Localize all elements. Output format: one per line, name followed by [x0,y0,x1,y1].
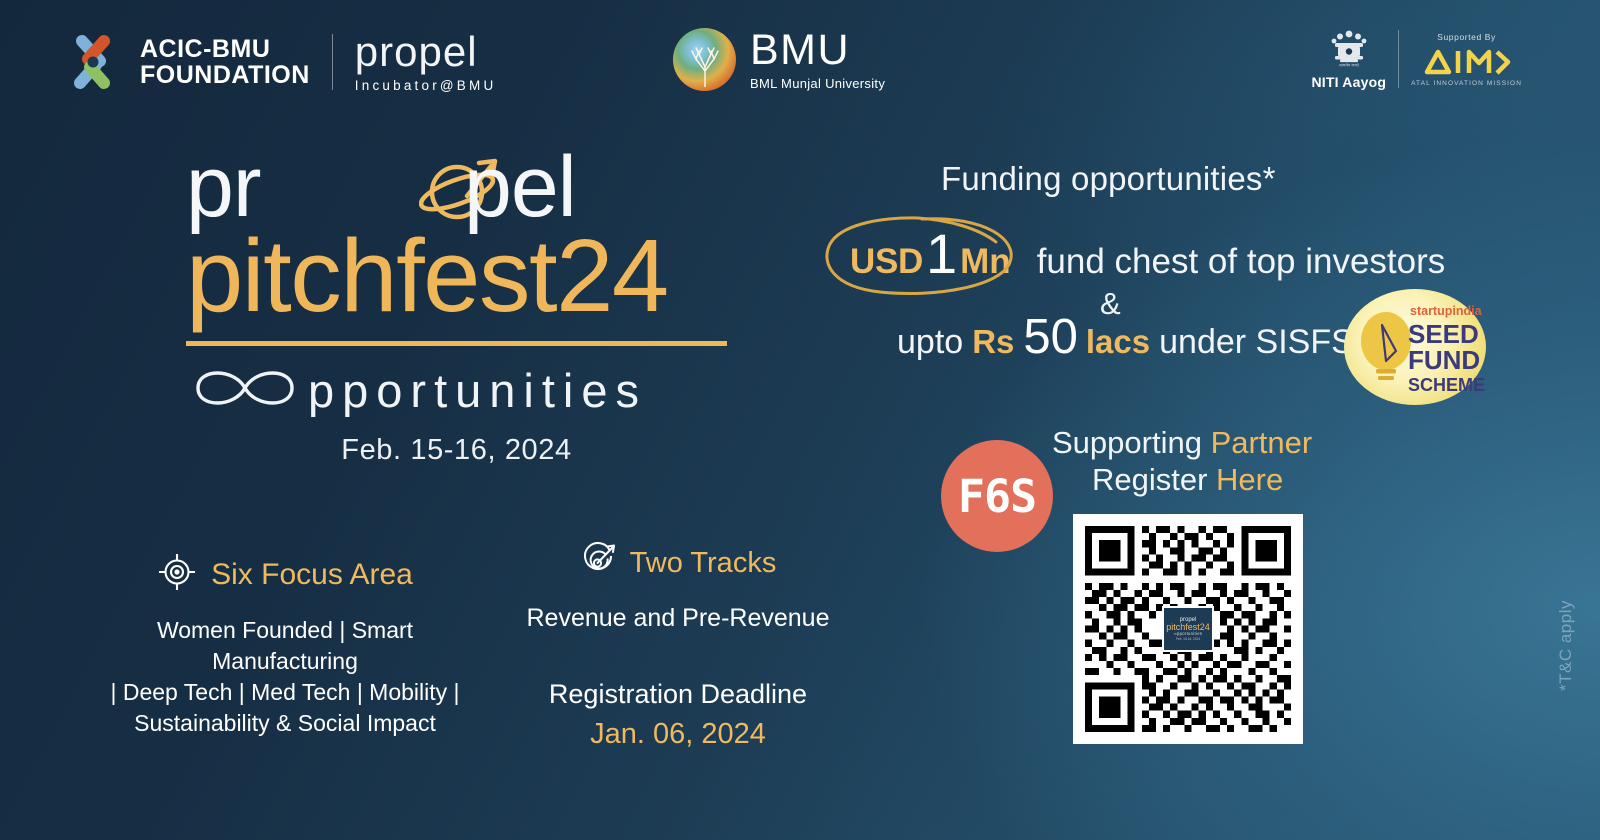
propel-tagline: Incubator@BMU [355,78,497,93]
usd-amount: 1 [926,232,957,277]
aim-supported-by: Supported By [1437,32,1496,42]
terms-conditions-note: *T&C apply [1556,600,1576,691]
sisfs-unit: lacs [1086,323,1150,361]
bmu-logo: BMU BML Munjal University [673,28,885,91]
focus-area-list: Women Founded | Smart Manufacturing | De… [85,615,485,739]
poster-canvas: ACIC-BMU FOUNDATION propel Incubator@BMU… [0,0,1600,840]
focus-heading: Six Focus Area [211,558,413,592]
bmu-tree-orb-icon [673,28,736,91]
event-date: Feb. 15-16, 2024 [186,434,727,467]
tracks-heading: Two Tracks [630,547,777,580]
svg-text:startupindia: startupindia [1410,304,1483,318]
funding-sisfs-row: upto Rs 50 lacs under SISFS [897,318,1354,362]
propel-suffix: pel [464,144,576,230]
opportunities-line: pportunities [186,358,746,422]
focus-line-2: | Deep Tech | Med Tech | Mobility | [85,677,485,708]
aim-logo: Supported By ATAL INNOVATION MISSION [1411,32,1522,87]
two-tracks-section: Two Tracks Revenue and Pre-Revenue Regis… [522,542,834,751]
crosshair-target-icon [157,552,197,597]
svg-text:SCHEME: SCHEME [1408,375,1485,395]
six-focus-area-section: Six Focus Area Women Founded | Smart Man… [85,552,485,739]
ashoka-emblem-icon: सत्यमेव जयते [1329,28,1369,72]
supporting-label: Supporting [1052,425,1211,460]
funding-heading: Funding opportunities* [941,160,1276,198]
registration-qr-code[interactable]: propel pitchfest24 ∞pportunities Feb. 15… [1073,514,1303,744]
partner-label: Partner [1211,425,1313,460]
qr-matrix: propel pitchfest24 ∞pportunities Feb. 15… [1085,526,1291,732]
propel-headline: pr pel [186,150,746,228]
svg-text:FUND: FUND [1408,345,1480,375]
bmu-full-name: BML Munjal University [750,77,885,90]
niti-aayog-label: NITI Aayog [1311,74,1386,90]
aim-subtitle: ATAL INNOVATION MISSION [1411,80,1522,87]
sisfs-amount: 50 [1023,318,1078,357]
pitchfest-headline: pitchfest24 [186,224,746,327]
propel-prefix: pr [186,144,260,230]
event-title-block: pr pel pitchfest24 [186,150,746,467]
tracks-subtitle: Revenue and Pre-Revenue [522,604,834,633]
acic-wordmark: ACIC-BMU FOUNDATION [140,36,310,89]
tracks-heading-row: Two Tracks [522,542,834,585]
title-underline-rule [186,341,727,346]
usd-prefix: USD [850,242,923,282]
deadline-label: Registration Deadline [522,679,834,710]
header-divider [332,34,333,90]
bmu-abbr: BMU [750,29,885,72]
usd-description: fund chest of top investors [1037,242,1446,282]
funding-usd-row: USD 1 Mn fund chest of top investors [828,232,1445,282]
focus-line-1: Women Founded | Smart Manufacturing [85,615,485,677]
focus-heading-row: Six Focus Area [85,552,485,597]
opportunities-text: pportunities [308,367,647,414]
svg-text:सत्यमेव जयते: सत्यमेव जयते [1339,63,1359,68]
focus-line-3: Sustainability & Social Impact [85,708,485,739]
deadline-value: Jan. 06, 2024 [522,718,834,751]
acic-bmu-propel-logo: ACIC-BMU FOUNDATION propel Incubator@BMU [62,31,496,93]
sisfs-description: under SISFS [1159,323,1354,362]
acic-line1: ACIC-BMU [140,36,310,63]
acic-line2: FOUNDATION [140,62,310,89]
sisfs-lead: upto [897,323,963,362]
bmu-wordmark: BMU BML Munjal University [750,29,885,90]
here-label: Here [1216,462,1283,497]
usd-unit: Mn [960,242,1011,282]
govt-partner-logos: सत्यमेव जयते NITI Aayog Supported By ATA… [1311,28,1522,90]
seed-fund-scheme-logo: startupindia SEED FUND SCHEME [1344,289,1486,405]
register-label: Register [1092,462,1216,497]
qr-center-logo: propel pitchfest24 ∞pportunities Feb. 15… [1162,606,1214,652]
sisfs-currency: Rs [972,323,1014,361]
niti-aayog-logo: सत्यमेव जयते NITI Aayog [1311,28,1386,90]
aim-wordmark-icon [1421,45,1513,77]
propel-wordmark: propel [355,31,497,73]
f6s-partner-logo[interactable]: F6S [941,440,1053,552]
funding-ampersand: & [1100,286,1121,322]
govt-logo-divider [1398,30,1399,88]
dartboard-icon [580,542,618,585]
supporting-partner-line: Supporting Partner [1052,425,1312,461]
register-here-line: Register Here [1092,462,1283,498]
qr-badge-date: Feb. 15-16, 2024 [1176,638,1200,641]
f6s-label: F6S [958,470,1036,523]
infinity-icon [186,359,304,422]
propel-incubator-logo: propel Incubator@BMU [355,31,497,93]
acic-x-mark-icon [62,31,124,93]
usd-amount-group: USD 1 Mn [828,232,1027,282]
